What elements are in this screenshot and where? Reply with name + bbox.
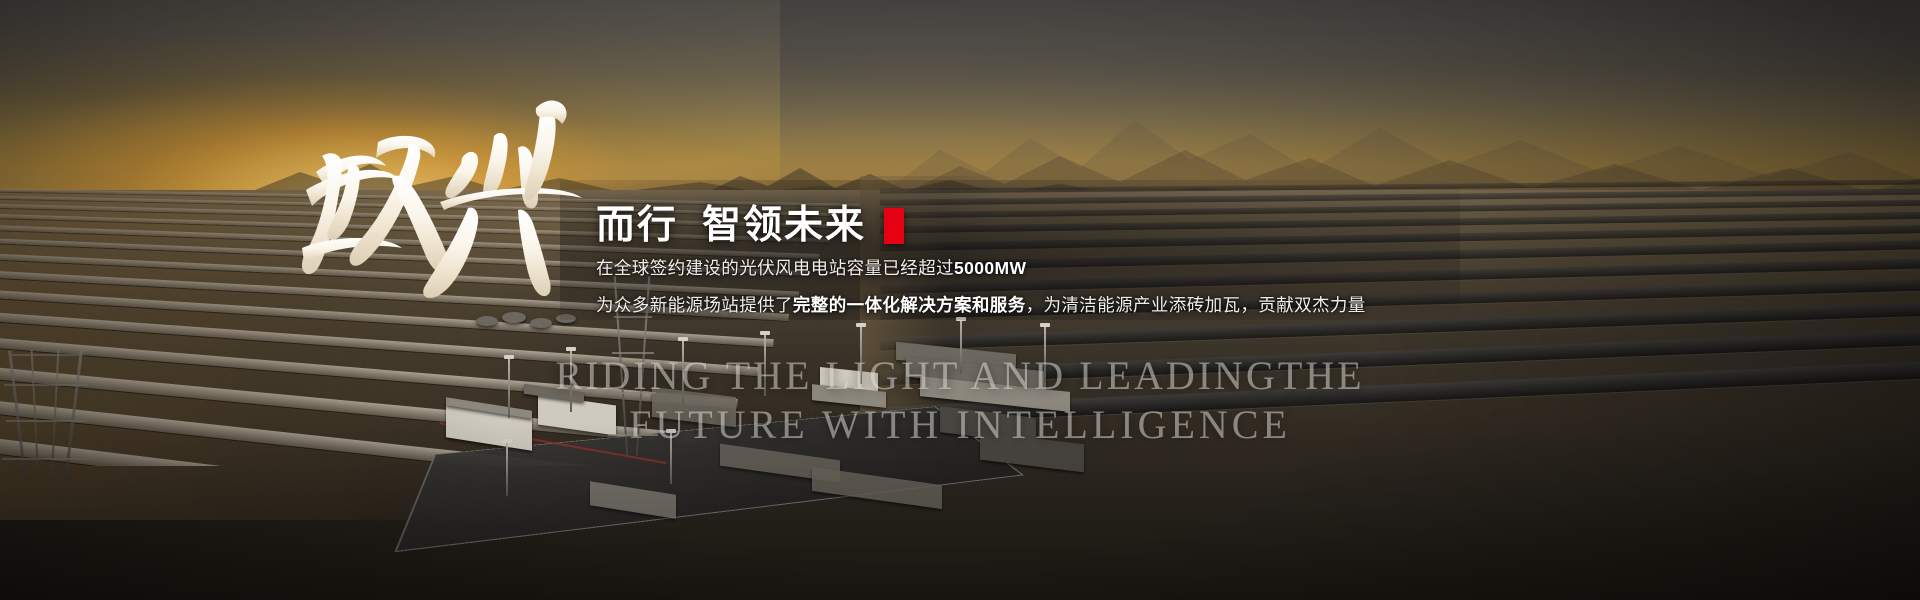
hero-banner: 而行 智领未来 在全球签约建设的光伏风电电站容量已经超过5000MW 为众多新能… xyxy=(0,0,1920,600)
headline-part-b: 智领未来 xyxy=(702,206,866,245)
headline-part-a: 而行 xyxy=(596,206,678,245)
subtitle-1-text: 在全球签约建设的光伏风电电站容量已经超过 xyxy=(596,258,954,278)
subtitle-1-capacity: 5000MW xyxy=(954,258,1026,278)
subtitle-line-2: 为众多新能源场站提供了完整的一体化解决方案和服务，为清洁能源产业添砖加瓦，贡献双… xyxy=(596,291,1496,319)
transmission-pylon-left xyxy=(10,350,82,480)
copy-block: 而行 智领未来 在全球签约建设的光伏风电电站容量已经超过5000MW 为众多新能… xyxy=(596,206,1496,320)
red-accent-block xyxy=(884,208,904,244)
substation-compound xyxy=(420,292,1080,522)
subtitle-line-1: 在全球签约建设的光伏风电电站容量已经超过5000MW xyxy=(596,254,1496,282)
subtitle-2-pre: 为众多新能源场站提供了 xyxy=(596,295,793,315)
subtitle-2-post: ，为清洁能源产业添砖加瓦，贡献双杰力量 xyxy=(1026,295,1366,315)
headline: 而行 智领未来 xyxy=(596,206,1496,245)
subtitle-2-strong: 完整的一体化解决方案和服务 xyxy=(793,295,1026,315)
